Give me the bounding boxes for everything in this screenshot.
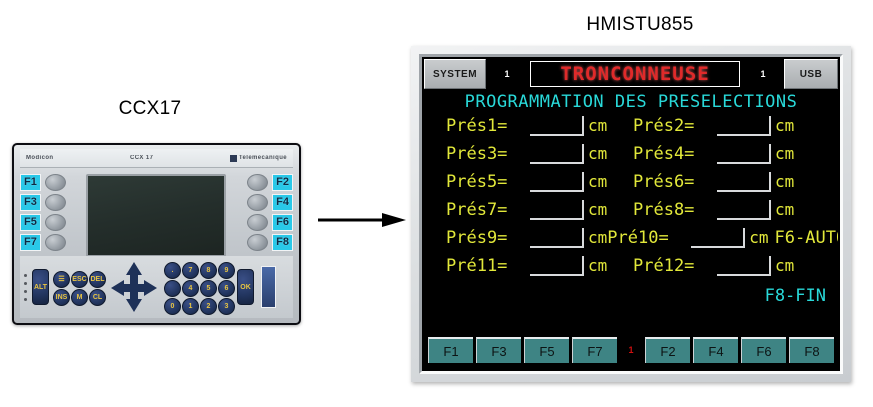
ccx17-fkey-f3[interactable]: F3 bbox=[20, 194, 66, 211]
preset-unit-12: cm bbox=[771, 256, 794, 276]
ccx17-key-7[interactable]: 7 bbox=[182, 262, 199, 279]
ccx17-key-menu[interactable]: ☰ bbox=[53, 271, 70, 288]
preset-unit-4: cm bbox=[771, 144, 794, 164]
ccx17-fkey-f7-button[interactable] bbox=[45, 234, 66, 251]
ccx17-key-m[interactable]: M bbox=[71, 289, 88, 306]
ccx17-display-screen bbox=[86, 174, 226, 257]
ccx17-key-ok[interactable]: OK bbox=[237, 269, 254, 305]
ccx17-function-key-column-left: F1 F3 F5 F7 bbox=[20, 174, 82, 251]
fkey-page-indicator: 1 bbox=[620, 337, 642, 363]
preset-input-2[interactable] bbox=[717, 116, 771, 136]
preset-cell-7: Prés7= cm bbox=[446, 200, 633, 220]
ccx17-direction-pad[interactable] bbox=[111, 262, 157, 312]
ccx17-brand-left: Modicon bbox=[26, 155, 53, 161]
preset-cell-10: Pré10= cm bbox=[607, 228, 768, 248]
ccx17-key-8[interactable]: 8 bbox=[200, 262, 217, 279]
preset-row: Prés3= cm Prés4= cm bbox=[446, 144, 826, 172]
ccx17-key-blank[interactable] bbox=[164, 280, 181, 297]
ccx17-key-9[interactable]: 9 bbox=[218, 262, 235, 279]
preset-unit-6: cm bbox=[771, 172, 794, 192]
usb-button[interactable]: USB bbox=[784, 59, 838, 89]
preset-label-3: Prés3= bbox=[446, 144, 530, 164]
ccx17-key-del[interactable]: DEL bbox=[89, 271, 106, 288]
ccx17-key-cl[interactable]: CL bbox=[89, 289, 106, 306]
ccx17-keypad-left-cluster: ☰ ESC DEL INS M CL bbox=[53, 271, 104, 304]
ccx17-brand-bar: Modicon CCX 17 Telemecanique bbox=[20, 149, 293, 168]
preset-unit-2: cm bbox=[771, 116, 794, 136]
preset-input-1[interactable] bbox=[530, 116, 584, 136]
hmi-fkey-f7[interactable]: F7 bbox=[572, 337, 617, 363]
hmistu855-device: SYSTEM 1 TRONCONNEUSE 1 USB PROGRAMMATIO… bbox=[411, 46, 851, 382]
ccx17-key-1[interactable]: 1 bbox=[182, 298, 199, 315]
preset-input-6[interactable] bbox=[717, 172, 771, 192]
screen-title: TRONCONNEUSE bbox=[560, 63, 709, 85]
ccx17-key-0[interactable]: 0 bbox=[164, 298, 181, 315]
hmi-fkey-f2[interactable]: F2 bbox=[645, 337, 690, 363]
hmi-fkey-f6[interactable]: F6 bbox=[741, 337, 786, 363]
ccx17-fkey-f5-label: F5 bbox=[20, 214, 41, 231]
ccx17-fkey-f7[interactable]: F7 bbox=[20, 234, 66, 251]
preset-unit-1: cm bbox=[584, 116, 607, 136]
preset-input-5[interactable] bbox=[530, 172, 584, 192]
preset-cell-12: Pré12= cm bbox=[633, 256, 820, 276]
preset-cell-8: Prés8= cm bbox=[633, 200, 820, 220]
hmi-top-bar: SYSTEM 1 TRONCONNEUSE 1 USB bbox=[424, 59, 838, 89]
preset-unit-11: cm bbox=[584, 256, 607, 276]
preset-label-1: Prés1= bbox=[446, 116, 530, 136]
ccx17-brand-center: CCX 17 bbox=[130, 155, 153, 161]
preset-label-4: Prés4= bbox=[633, 144, 717, 164]
preset-label-5: Prés5= bbox=[446, 172, 530, 192]
preset-row: Prés7= cm Prés8= cm bbox=[446, 200, 826, 228]
ccx17-key-esc[interactable]: ESC bbox=[71, 271, 88, 288]
preset-input-12[interactable] bbox=[717, 256, 771, 276]
ccx17-fkey-f6-button[interactable] bbox=[247, 214, 268, 231]
preset-unit-3: cm bbox=[584, 144, 607, 164]
ccx17-fkey-f8[interactable]: F8 bbox=[247, 234, 293, 251]
arrow-left-icon[interactable] bbox=[111, 280, 124, 296]
ccx17-keypad: ALT ☰ ESC DEL INS M CL . 7 8 9 4 5 6 0 bbox=[20, 256, 293, 318]
screen-title-box: TRONCONNEUSE bbox=[530, 61, 740, 87]
telemecanique-logo-icon: Telemecanique bbox=[230, 155, 287, 162]
ccx17-side-strip bbox=[261, 266, 276, 308]
preset-input-4[interactable] bbox=[717, 144, 771, 164]
ccx17-key-2[interactable]: 2 bbox=[200, 298, 217, 315]
ccx17-fkey-f5[interactable]: F5 bbox=[20, 214, 66, 231]
arrow-right-icon[interactable] bbox=[144, 280, 157, 296]
preset-cell-1: Prés1= cm bbox=[446, 116, 633, 136]
preset-input-7[interactable] bbox=[530, 200, 584, 220]
arrow-up-icon[interactable] bbox=[126, 262, 142, 275]
preset-label-2: Prés2= bbox=[633, 116, 717, 136]
ccx17-numeric-keypad: . 7 8 9 4 5 6 0 1 2 3 bbox=[164, 262, 233, 313]
page-number-right: 1 bbox=[742, 59, 784, 89]
ccx17-key-5[interactable]: 5 bbox=[200, 280, 217, 297]
preset-input-11[interactable] bbox=[530, 256, 584, 276]
ccx17-function-key-column-right: F2 F4 F6 F8 bbox=[231, 174, 293, 251]
ccx17-brand-right: Telemecanique bbox=[239, 155, 287, 161]
preset-cell-3: Prés3= cm bbox=[446, 144, 633, 164]
preset-row: Prés5= cm Prés6= cm bbox=[446, 172, 826, 200]
preset-label-8: Prés8= bbox=[633, 200, 717, 220]
ccx17-key-dot[interactable]: . bbox=[164, 262, 181, 279]
preset-cell-6: Prés6= cm bbox=[633, 172, 820, 192]
preset-cell-11: Pré11= cm bbox=[446, 256, 633, 276]
preset-input-8[interactable] bbox=[717, 200, 771, 220]
preset-label-9: Prés9= bbox=[446, 228, 530, 248]
preset-row: Prés1= cm Prés2= cm bbox=[446, 116, 826, 144]
hmi-fkey-f3[interactable]: F3 bbox=[476, 337, 521, 363]
ccx17-fkey-f6-label: F6 bbox=[272, 214, 293, 231]
preset-cell-4: Prés4= cm bbox=[633, 144, 820, 164]
system-button[interactable]: SYSTEM bbox=[424, 59, 486, 89]
flow-arrow-icon bbox=[318, 212, 406, 228]
ccx17-fkey-f4-button[interactable] bbox=[247, 194, 268, 211]
hmi-fkey-f1[interactable]: F1 bbox=[428, 337, 473, 363]
preset-label-10: Pré10= bbox=[607, 228, 691, 248]
ccx17-fkey-f7-label: F7 bbox=[20, 234, 41, 251]
hmistu855-display-screen: SYSTEM 1 TRONCONNEUSE 1 USB PROGRAMMATIO… bbox=[424, 59, 838, 369]
preset-input-3[interactable] bbox=[530, 144, 584, 164]
presets-grid: Prés1= cm Prés2= cm Prés3= bbox=[424, 116, 838, 284]
ccx17-fkey-f2[interactable]: F2 bbox=[247, 174, 293, 191]
ccx17-fkey-f1[interactable]: F1 bbox=[20, 174, 66, 191]
preset-cell-2: Prés2= cm bbox=[633, 116, 820, 136]
ccx17-device: Modicon CCX 17 Telemecanique F1 F3 F5 F7… bbox=[12, 143, 301, 325]
ccx17-fkey-f6[interactable]: F6 bbox=[247, 214, 293, 231]
preset-unit-5: cm bbox=[584, 172, 607, 192]
preset-label-6: Prés6= bbox=[633, 172, 717, 192]
preset-row: Pré11= cm Pré12= cm bbox=[446, 256, 826, 284]
hmi-fkey-f5[interactable]: F5 bbox=[524, 337, 569, 363]
preset-cell-9: Prés9= cm bbox=[446, 228, 607, 248]
hmi-fkey-f8[interactable]: F8 bbox=[789, 337, 834, 363]
preset-unit-7: cm bbox=[584, 200, 607, 220]
ccx17-fkey-f2-button[interactable] bbox=[247, 174, 268, 191]
screen-heading: PROGRAMMATION DES PRESELECTIONS bbox=[424, 92, 838, 112]
ccx17-key-4[interactable]: 4 bbox=[182, 280, 199, 297]
ccx17-fkey-f4[interactable]: F4 bbox=[247, 194, 293, 211]
preset-row: Prés9= cm Pré10= cm F6-AUTO bbox=[446, 228, 826, 256]
ccx17-key-6[interactable]: 6 bbox=[218, 280, 235, 297]
ccx17-indicator-leds bbox=[24, 274, 27, 301]
ccx17-fkey-f1-button[interactable] bbox=[45, 174, 66, 191]
ccx17-fkey-f3-button[interactable] bbox=[45, 194, 66, 211]
preset-unit-10: cm bbox=[745, 228, 768, 248]
preset-unit-8: cm bbox=[771, 200, 794, 220]
preset-label-11: Pré11= bbox=[446, 256, 530, 276]
ccx17-caption: CCX17 bbox=[0, 98, 300, 120]
preset-label-12: Pré12= bbox=[633, 256, 717, 276]
preset-input-10[interactable] bbox=[691, 228, 745, 248]
hmi-function-key-bar: F1 F3 F5 F7 1 F2 F4 F6 F8 bbox=[428, 337, 834, 363]
ccx17-fkey-f8-button[interactable] bbox=[247, 234, 268, 251]
auto-mode-hint: F6-AUTO bbox=[769, 228, 838, 248]
preset-label-7: Prés7= bbox=[446, 200, 530, 220]
ccx17-key-ins[interactable]: INS bbox=[53, 289, 70, 306]
ccx17-fkey-f4-label: F4 bbox=[272, 194, 293, 211]
ccx17-fkey-f3-label: F3 bbox=[20, 194, 41, 211]
ccx17-fkey-f2-label: F2 bbox=[272, 174, 293, 191]
exit-hint: F8-FIN bbox=[424, 286, 838, 306]
hmistu855-caption: HMISTU855 bbox=[420, 14, 860, 36]
hmistu855-bezel: SYSTEM 1 TRONCONNEUSE 1 USB PROGRAMMATIO… bbox=[419, 54, 843, 374]
page-number-left: 1 bbox=[486, 59, 528, 89]
ccx17-fkey-f8-label: F8 bbox=[272, 234, 293, 251]
ccx17-fkey-f1-label: F1 bbox=[20, 174, 41, 191]
ccx17-key-alt[interactable]: ALT bbox=[32, 269, 49, 305]
hmi-fkey-f4[interactable]: F4 bbox=[693, 337, 738, 363]
preset-input-9[interactable] bbox=[530, 228, 584, 248]
ccx17-fkey-f5-button[interactable] bbox=[45, 214, 66, 231]
arrow-down-icon[interactable] bbox=[126, 299, 142, 312]
preset-unit-9: cm bbox=[584, 228, 607, 248]
ccx17-key-3[interactable]: 3 bbox=[218, 298, 235, 315]
preset-cell-5: Prés5= cm bbox=[446, 172, 633, 192]
